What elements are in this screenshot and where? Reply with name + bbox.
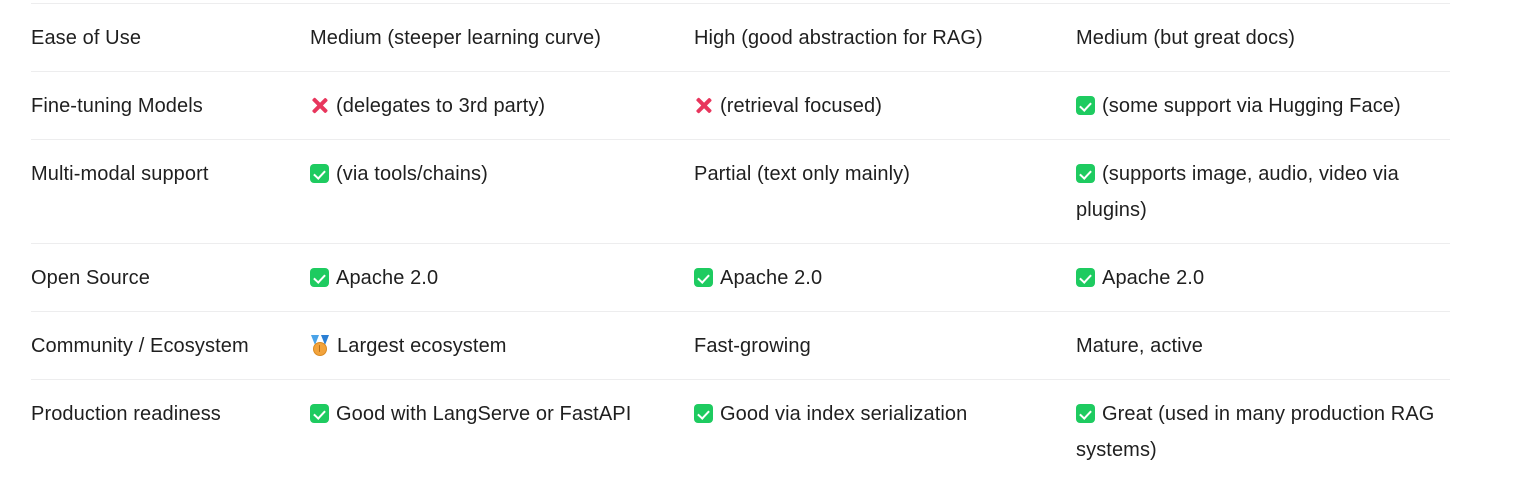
check-mark-icon <box>1076 268 1095 287</box>
check-mark-icon <box>1076 164 1095 183</box>
row-label-ease-of-use: Ease of Use <box>31 4 310 72</box>
check-mark-icon <box>310 268 329 287</box>
cell-text: Great (used in many production RAG syste… <box>1076 403 1434 461</box>
cell-content: Good via index serialization <box>694 380 1076 447</box>
cell-content: (supports image, audio, video via plugin… <box>1076 140 1450 243</box>
cell-text: (supports image, audio, video via plugin… <box>1076 163 1399 221</box>
cell-content: Medium (but great docs) <box>1076 4 1450 71</box>
row-label-text: Open Source <box>31 244 310 311</box>
cell-multi-modal-col-b: Partial (text only mainly) <box>694 140 1076 244</box>
cell-multi-modal-col-c: (supports image, audio, video via plugin… <box>1076 140 1450 244</box>
row-label-production-readiness: Production readiness <box>31 380 310 484</box>
cell-text: (some support via Hugging Face) <box>1102 95 1401 117</box>
cell-text: Apache 2.0 <box>720 267 822 289</box>
cell-text: Medium (but great docs) <box>1076 27 1295 49</box>
cell-production-col-b: Good via index serialization <box>694 380 1076 484</box>
table-row: Community / Ecosystem Largest ecosystem … <box>31 312 1450 380</box>
row-label-multi-modal-support: Multi-modal support <box>31 140 310 244</box>
check-mark-icon <box>310 404 329 423</box>
cell-multi-modal-col-a: (via tools/chains) <box>310 140 694 244</box>
cell-content: Apache 2.0 <box>694 244 1076 311</box>
cross-mark-icon <box>694 96 713 115</box>
cell-text: (retrieval focused) <box>720 95 882 117</box>
cell-text: Apache 2.0 <box>336 267 438 289</box>
table-row: Fine-tuning Models (delegates to 3rd par… <box>31 72 1450 140</box>
cell-content: Fast-growing <box>694 312 1076 379</box>
check-mark-icon <box>694 404 713 423</box>
cell-production-col-a: Good with LangServe or FastAPI <box>310 380 694 484</box>
row-label-fine-tuning-models: Fine-tuning Models <box>31 72 310 140</box>
row-label-text: Multi-modal support <box>31 140 310 207</box>
check-mark-icon <box>310 164 329 183</box>
cell-content: (via tools/chains) <box>310 140 694 207</box>
gold-medal-icon <box>310 335 330 356</box>
table-row: Open Source Apache 2.0 Apache 2.0 Apache… <box>31 244 1450 312</box>
row-label-text: Community / Ecosystem <box>31 312 310 379</box>
cell-content: Partial (text only mainly) <box>694 140 1076 207</box>
cell-text: High (good abstraction for RAG) <box>694 27 983 49</box>
row-label-open-source: Open Source <box>31 244 310 312</box>
cell-ease-of-use-col-a: Medium (steeper learning curve) <box>310 4 694 72</box>
cell-fine-tuning-col-b: (retrieval focused) <box>694 72 1076 140</box>
cross-mark-icon <box>310 96 329 115</box>
cell-content: Good with LangServe or FastAPI <box>310 380 694 447</box>
cell-community-col-b: Fast-growing <box>694 312 1076 380</box>
cell-content: Medium (steeper learning curve) <box>310 4 694 71</box>
cell-text: Apache 2.0 <box>1102 267 1204 289</box>
cell-open-source-col-b: Apache 2.0 <box>694 244 1076 312</box>
cell-community-col-c: Mature, active <box>1076 312 1450 380</box>
check-mark-icon <box>694 268 713 287</box>
cell-content: (retrieval focused) <box>694 72 1076 139</box>
page-root: Ease of Use Medium (steeper learning cur… <box>0 0 1514 503</box>
cell-content: Mature, active <box>1076 312 1450 379</box>
framework-comparison-table: Ease of Use Medium (steeper learning cur… <box>31 3 1450 483</box>
cell-text: Good with LangServe or FastAPI <box>336 403 631 425</box>
cell-text: Good via index serialization <box>720 403 967 425</box>
table-row: Ease of Use Medium (steeper learning cur… <box>31 4 1450 72</box>
check-mark-icon <box>1076 404 1095 423</box>
cell-content: Apache 2.0 <box>310 244 694 311</box>
table-row: Production readiness Good with LangServe… <box>31 380 1450 484</box>
cell-text: Fast-growing <box>694 335 811 357</box>
cell-text: Largest ecosystem <box>337 335 507 357</box>
row-label-community-ecosystem: Community / Ecosystem <box>31 312 310 380</box>
cell-ease-of-use-col-c: Medium (but great docs) <box>1076 4 1450 72</box>
cell-content: Apache 2.0 <box>1076 244 1450 311</box>
cell-text: (via tools/chains) <box>336 163 488 185</box>
cell-content: (delegates to 3rd party) <box>310 72 694 139</box>
cell-production-col-c: Great (used in many production RAG syste… <box>1076 380 1450 484</box>
cell-fine-tuning-col-c: (some support via Hugging Face) <box>1076 72 1450 140</box>
cell-community-col-a: Largest ecosystem <box>310 312 694 380</box>
table-body: Ease of Use Medium (steeper learning cur… <box>31 4 1450 484</box>
cell-text: Medium (steeper learning curve) <box>310 27 601 49</box>
cell-open-source-col-c: Apache 2.0 <box>1076 244 1450 312</box>
row-label-text: Fine-tuning Models <box>31 72 310 139</box>
check-mark-icon <box>1076 96 1095 115</box>
cell-content: Great (used in many production RAG syste… <box>1076 380 1450 483</box>
row-label-text: Production readiness <box>31 380 310 447</box>
cell-ease-of-use-col-b: High (good abstraction for RAG) <box>694 4 1076 72</box>
cell-text: Mature, active <box>1076 335 1203 357</box>
table-row: Multi-modal support (via tools/chains) P… <box>31 140 1450 244</box>
cell-content: Largest ecosystem <box>310 312 694 379</box>
cell-text: (delegates to 3rd party) <box>336 95 545 117</box>
cell-content: High (good abstraction for RAG) <box>694 4 1076 71</box>
cell-open-source-col-a: Apache 2.0 <box>310 244 694 312</box>
cell-fine-tuning-col-a: (delegates to 3rd party) <box>310 72 694 140</box>
cell-text: Partial (text only mainly) <box>694 163 910 185</box>
row-label-text: Ease of Use <box>31 4 310 71</box>
cell-content: (some support via Hugging Face) <box>1076 72 1450 139</box>
